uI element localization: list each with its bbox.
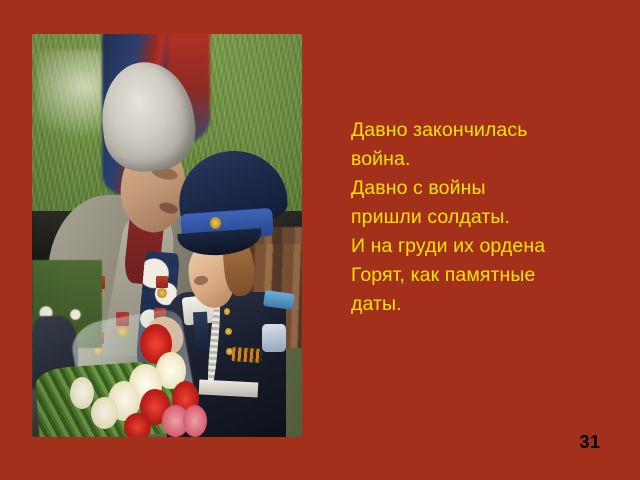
veteran-and-boy-photo bbox=[32, 34, 302, 437]
st-george-ribbon-icon bbox=[231, 347, 262, 363]
medal-icon bbox=[157, 288, 167, 298]
medal-ribbon-icon bbox=[156, 276, 168, 288]
boy-sleeve-patch bbox=[262, 324, 286, 352]
flower-icon bbox=[124, 413, 151, 437]
uniform-button-icon bbox=[224, 308, 230, 315]
cap-cockade-icon bbox=[210, 217, 221, 229]
uniform-button-icon bbox=[225, 328, 231, 335]
photo-frame bbox=[32, 34, 302, 437]
boy-parade-belt bbox=[199, 379, 259, 397]
page-number: 31 bbox=[560, 432, 620, 453]
flower-icon bbox=[70, 377, 94, 409]
boy-necktie bbox=[193, 312, 209, 353]
poem-text: Давно закончилась война. Давно с войны п… bbox=[351, 116, 619, 319]
slide-canvas: Давно закончилась война. Давно с войны п… bbox=[0, 0, 640, 480]
